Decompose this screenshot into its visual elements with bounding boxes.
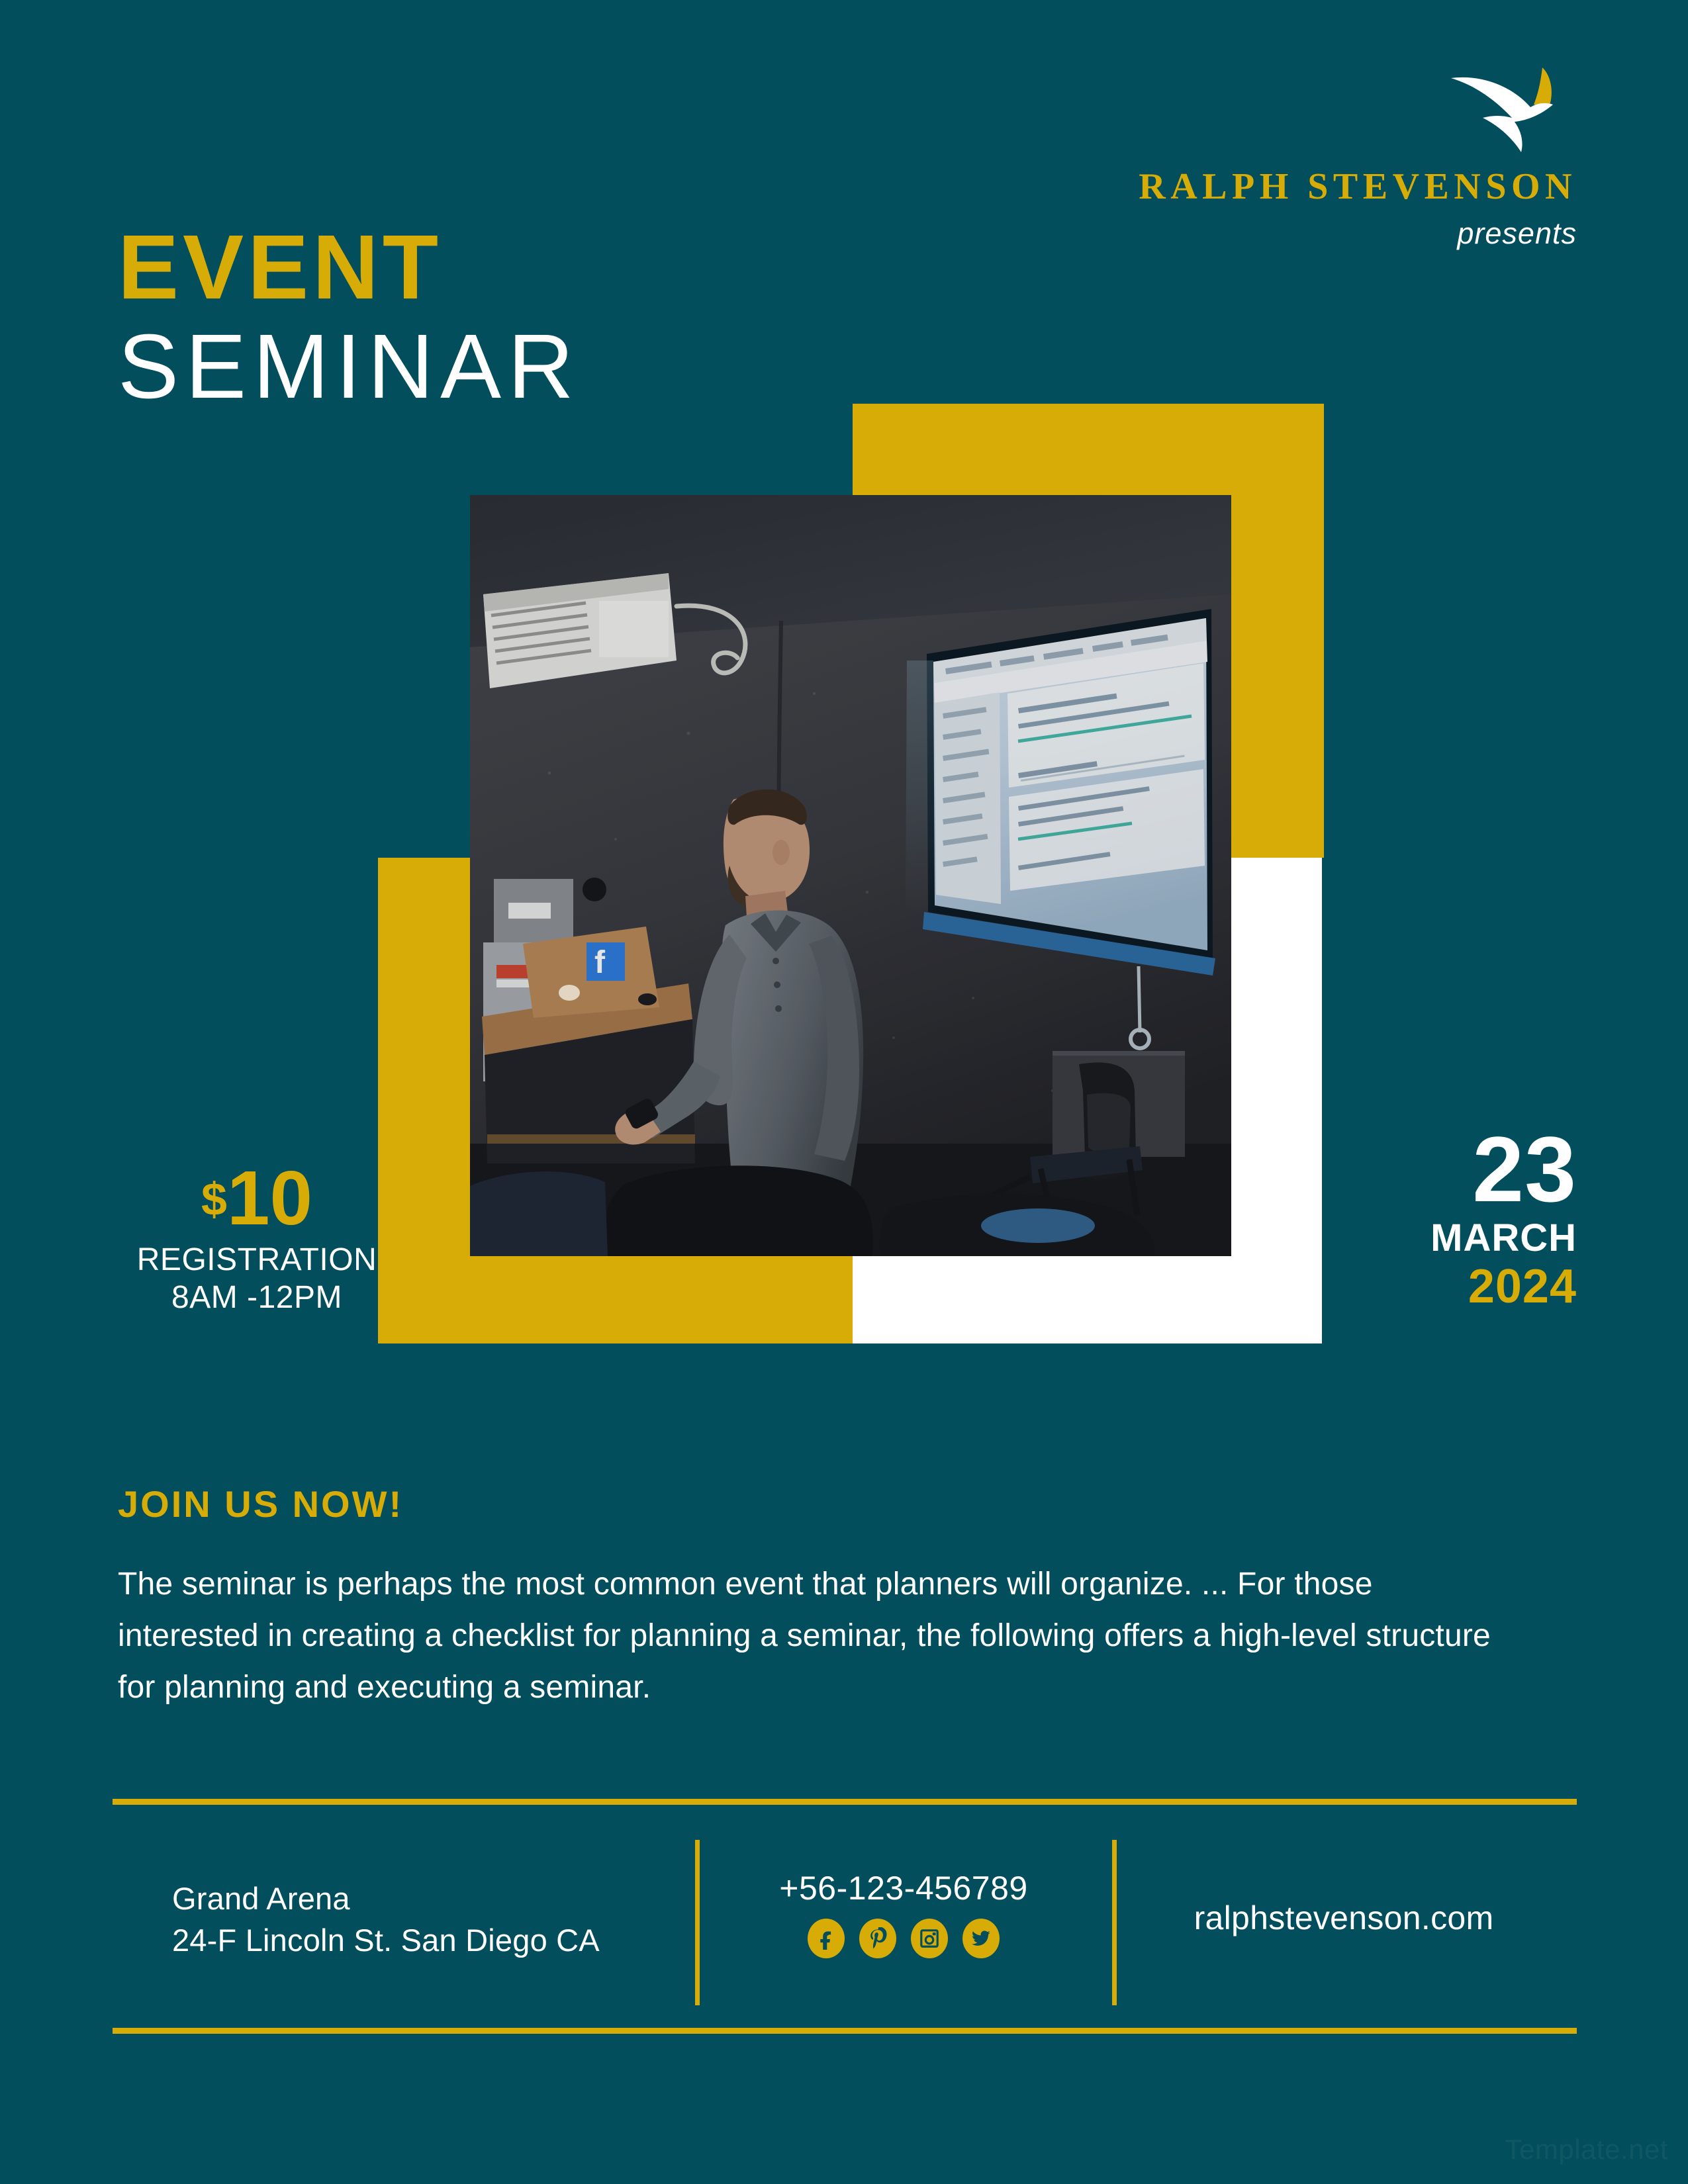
- venue-address: 24-F Lincoln St. San Diego CA: [172, 1920, 600, 1962]
- social-links: [695, 1919, 1112, 1958]
- price-value: 10: [227, 1155, 312, 1241]
- date-day: 23: [1299, 1125, 1577, 1213]
- event-photo-illustration: f: [470, 495, 1231, 1256]
- divider-rule-bottom: [113, 2028, 1577, 2034]
- price-label: REGISTRATION: [118, 1242, 396, 1279]
- price-time: 8AM -12PM: [118, 1279, 396, 1317]
- title-line-event: EVENT: [118, 220, 581, 316]
- date-month: MARCH: [1299, 1217, 1577, 1259]
- twitter-icon[interactable]: [962, 1919, 1000, 1958]
- price-amount: $10: [118, 1160, 396, 1236]
- website-url[interactable]: ralphstevenson.com: [1112, 1899, 1575, 1938]
- footer: Grand Arena 24-F Lincoln St. San Diego C…: [113, 1827, 1577, 2019]
- phone-number[interactable]: +56-123-456789: [695, 1870, 1112, 1908]
- instagram-icon[interactable]: [911, 1919, 948, 1958]
- brand-presents-text: presents: [1074, 218, 1577, 248]
- date-block: 23 MARCH 2024: [1299, 1125, 1577, 1313]
- event-poster: RALPH STEVENSON presents EVENT SEMINAR: [0, 0, 1688, 2184]
- currency-symbol: $: [201, 1173, 227, 1225]
- brand-name: RALPH STEVENSON: [1074, 168, 1577, 205]
- bird-swoosh-logo-icon: [1443, 64, 1569, 156]
- venue-name: Grand Arena: [172, 1878, 600, 1920]
- watermark-text: Template.net: [1505, 2134, 1668, 2165]
- brand-header: RALPH STEVENSON presents: [1074, 64, 1577, 248]
- footer-contact: +56-123-456789: [695, 1870, 1112, 1958]
- page-title: EVENT SEMINAR: [118, 220, 581, 418]
- pinterest-icon[interactable]: [859, 1919, 896, 1958]
- body-paragraph: The seminar is perhaps the most common e…: [118, 1559, 1501, 1713]
- divider-rule-top: [113, 1799, 1577, 1805]
- date-year: 2024: [1299, 1261, 1577, 1313]
- price-block: $10 REGISTRATION 8AM -12PM: [118, 1160, 396, 1316]
- event-photo: f: [470, 495, 1231, 1256]
- footer-venue: Grand Arena 24-F Lincoln St. San Diego C…: [172, 1878, 600, 1962]
- facebook-icon[interactable]: [808, 1919, 845, 1958]
- join-us-heading: JOIN US NOW!: [118, 1486, 403, 1523]
- title-line-seminar: SEMINAR: [118, 316, 581, 418]
